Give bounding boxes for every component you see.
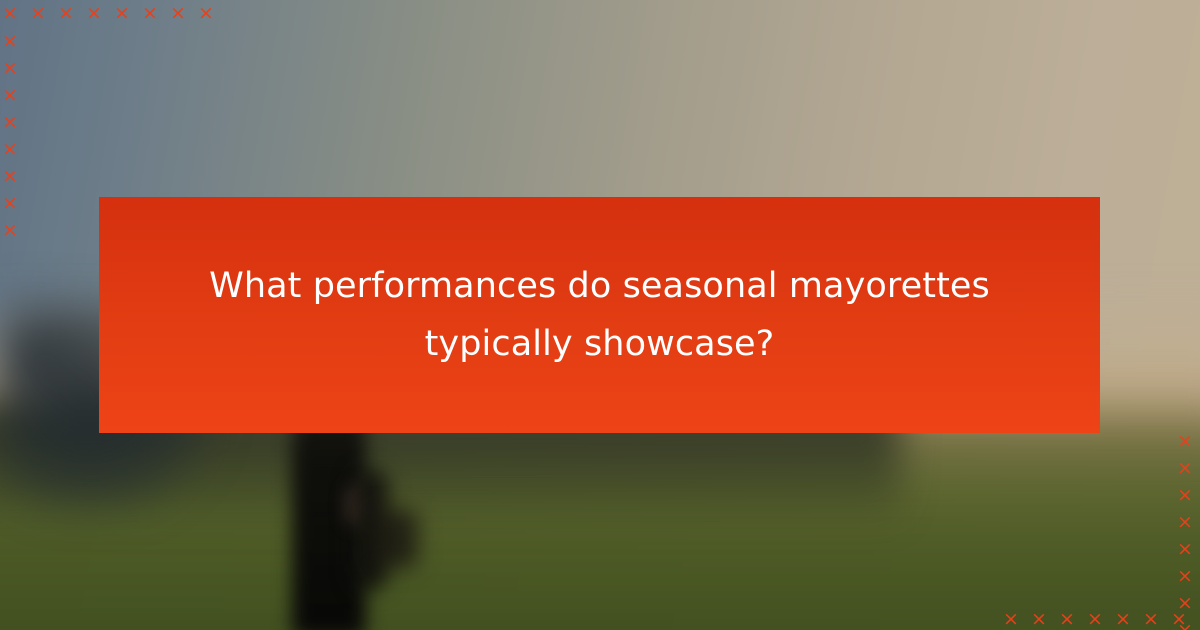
question-card: What performances do seasonal mayorettes… [99, 197, 1100, 433]
person-bag-silhouette [372, 510, 418, 568]
question-text: What performances do seasonal mayorettes… [169, 257, 1030, 373]
promo-card-image: ×××××××××××××××××××××××××××××××× What pe… [0, 0, 1200, 630]
